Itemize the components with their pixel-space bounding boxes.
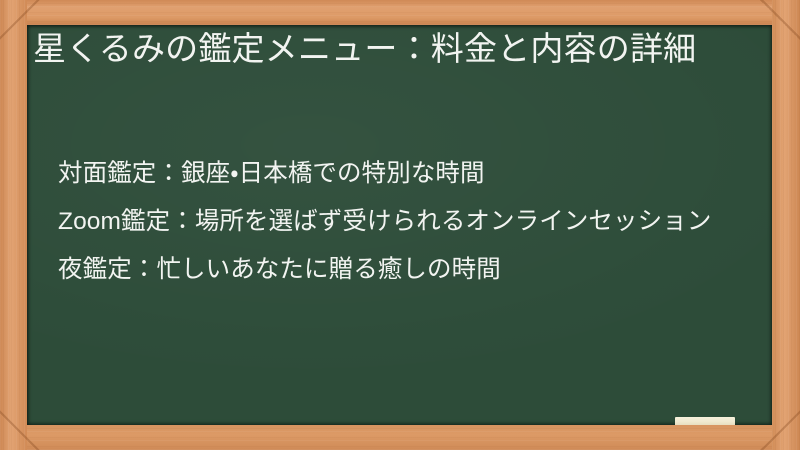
chalk-stick-icon	[675, 417, 735, 425]
chalkboard-frame: 星くるみの鑑定メニュー：料金と内容の詳細 対面鑑定：銀座・日本橋での特別な時間 …	[0, 0, 800, 450]
list-item: 夜鑑定：忙しいあなたに贈る癒しの時間	[58, 249, 758, 291]
list-item: Zoom鑑定：場所を選ばず受けられるオンラインセッション	[58, 201, 758, 243]
chalkboard-content: 星くるみの鑑定メニュー：料金と内容の詳細 対面鑑定：銀座・日本橋での特別な時間 …	[27, 25, 772, 425]
frame-rail-bottom	[0, 425, 800, 450]
frame-rail-top	[0, 0, 800, 25]
list-item: 対面鑑定：銀座・日本橋での特別な時間	[58, 153, 758, 195]
menu-list: 対面鑑定：銀座・日本橋での特別な時間 Zoom鑑定：場所を選ばず受けられるオンラ…	[58, 153, 758, 297]
page-title: 星くるみの鑑定メニュー：料金と内容の詳細	[33, 28, 759, 70]
frame-rail-left	[0, 0, 27, 450]
chalkboard-surface: 星くるみの鑑定メニュー：料金と内容の詳細 対面鑑定：銀座・日本橋での特別な時間 …	[27, 25, 772, 425]
frame-rail-right	[772, 0, 800, 450]
